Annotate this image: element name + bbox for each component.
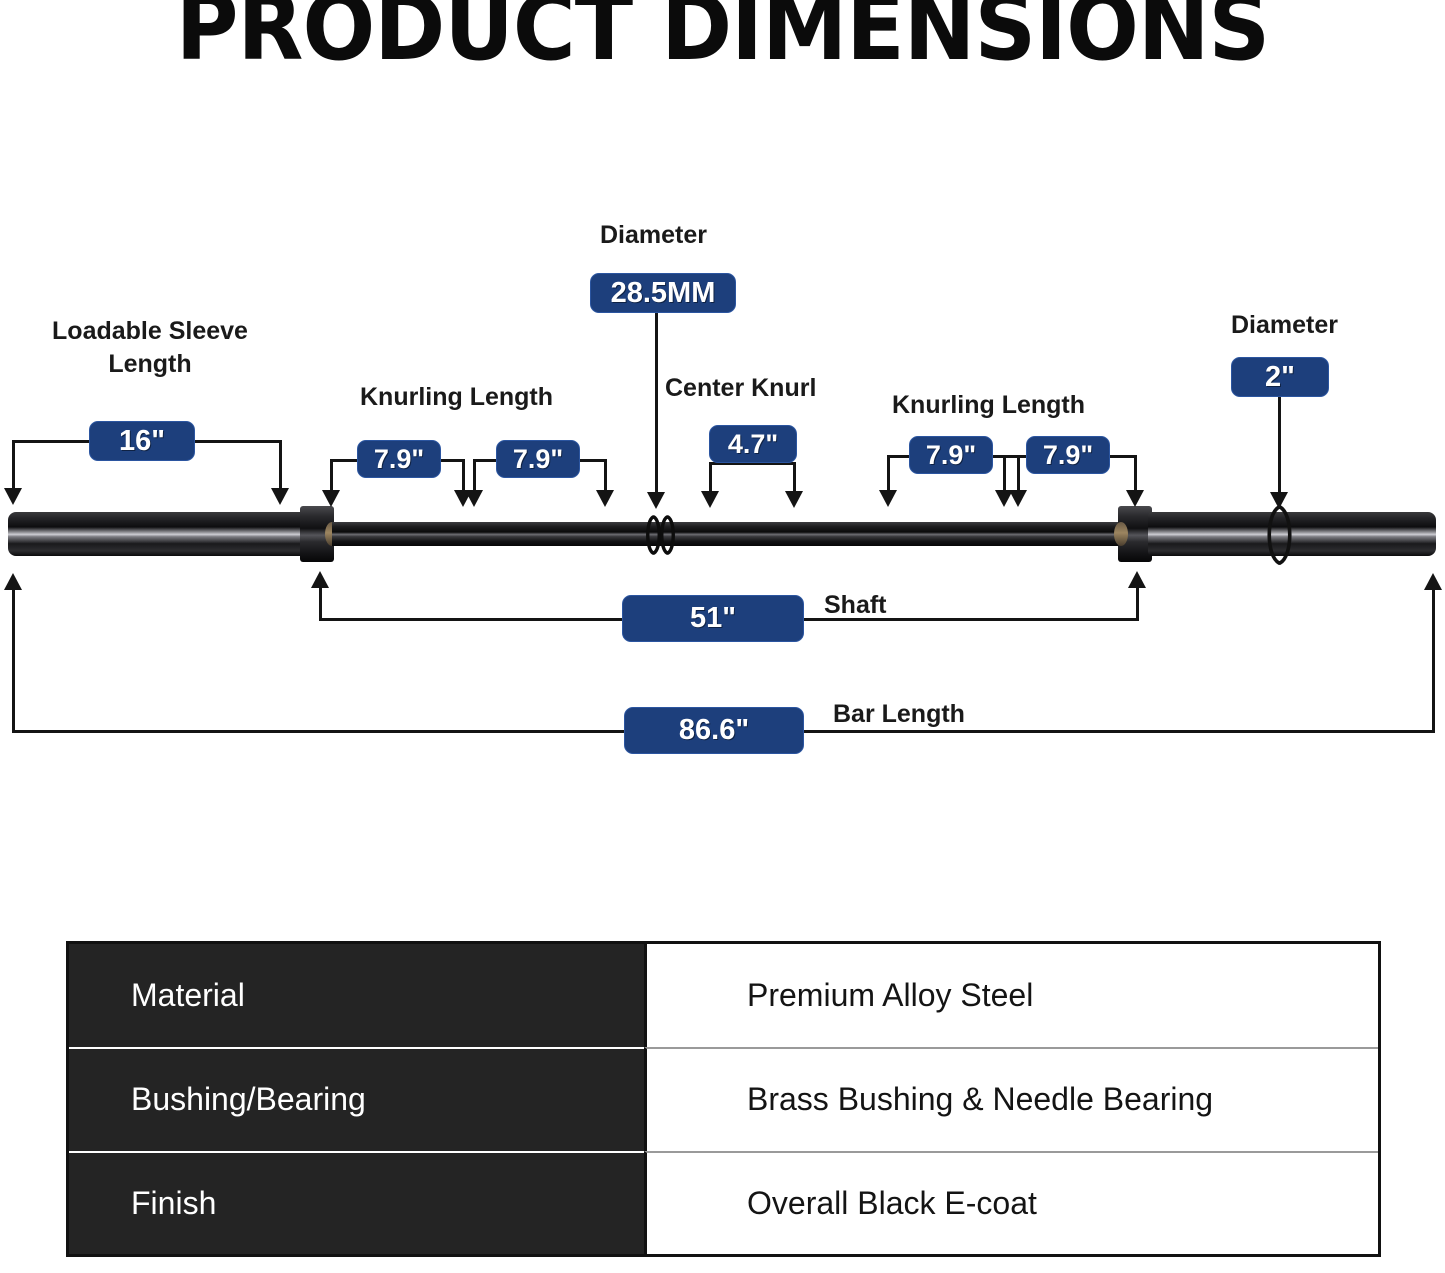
knurling-length-right-caption: Knurling Length [892,390,1085,420]
bar-length-right-tick [1432,588,1435,732]
shaft-caption: Shaft [824,590,887,620]
table-row: Material Premium Alloy Steel [69,944,1378,1047]
loadable-sleeve-right-tick [279,440,282,490]
knurling-left-a-tick2 [462,459,465,492]
knurling-left-b-tick2 [604,459,607,492]
center-knurl-tick1 [709,462,712,493]
diameter-center-caption: Diameter [600,220,707,250]
knurling-left-a-badge: 7.9" [357,440,441,478]
loadable-sleeve-left-tick [12,440,15,490]
knurling-right-a-tick2 [1017,455,1020,492]
bar-length-left-tick [12,588,15,732]
knurling-right-b-tick2 [1134,455,1137,492]
knurling-left-a-tick1 [330,459,333,492]
spec-key: Bushing/Bearing [69,1047,644,1150]
diameter-center-badge: 28.5MM [590,273,736,313]
knurling-left-b-arrow2 [596,490,614,507]
product-dimensions-infographic: PRODUCT DIMENSIONS Loadable Sleeve Lengt… [0,0,1445,1273]
bar-length-left-arrow [4,573,22,590]
page-title: PRODUCT DIMENSIONS [51,0,1395,74]
knurling-right-b-badge: 7.9" [1026,436,1110,474]
knurling-right-a-arrow1 [879,490,897,507]
spec-key: Finish [69,1151,644,1254]
loadable-sleeve-right-arrow [271,488,289,505]
center-diameter-ring-icon [640,513,680,557]
shaft-left-arrow [311,571,329,588]
shaft-badge: 51" [622,595,804,642]
shaft-left-tick [319,586,322,620]
knurling-length-left-caption: Knurling Length [360,382,553,412]
center-knurl-arrow2 [785,491,803,508]
knurling-right-b-arrow2 [1126,490,1144,507]
diameter-sleeve-leader [1278,397,1281,494]
diameter-center-arrow [647,492,665,509]
diameter-center-leader [655,313,658,494]
loadable-sleeve-length-caption: Loadable Sleeve Length [20,315,280,381]
spec-key: Material [69,944,644,1047]
diameter-sleeve-arrow [1270,492,1288,509]
diameter-sleeve-badge: 2" [1231,357,1329,397]
knurling-left-b-badge: 7.9" [496,440,580,478]
spec-value: Brass Bushing & Needle Bearing [644,1047,1378,1150]
loadable-sleeve-length-badge: 16" [89,421,195,461]
spec-value: Premium Alloy Steel [644,944,1378,1047]
center-knurl-tick2 [793,462,796,493]
spec-value: Overall Black E-coat [644,1151,1378,1254]
table-row: Bushing/Bearing Brass Bushing & Needle B… [69,1047,1378,1150]
left-sleeve [8,512,308,556]
bar-length-badge: 86.6" [624,707,804,754]
center-knurl-badge: 4.7" [709,425,797,463]
bar-length-right-arrow [1424,573,1442,590]
shaft-right-tick [1136,586,1139,620]
bar-length-caption: Bar Length [833,699,965,729]
knurling-right-a-badge: 7.9" [909,436,993,474]
table-row: Finish Overall Black E-coat [69,1151,1378,1254]
knurling-left-b-tick1 [473,459,476,492]
shaft-right-arrow [1128,571,1146,588]
diameter-sleeve-caption: Diameter [1231,310,1338,340]
spec-table: Material Premium Alloy Steel Bushing/Bea… [66,941,1381,1257]
center-knurl-caption: Center Knurl [665,373,816,403]
knurling-left-b-arrow1 [465,490,483,507]
right-collar-bushing [1114,522,1128,546]
knurling-left-a-arrow1 [322,490,340,507]
bar-shaft [332,522,1122,546]
knurling-right-a-tick1 [887,455,890,492]
center-knurl-arrow1 [701,491,719,508]
barbell-illustration [0,500,1445,570]
knurling-right-b-tick1 [1003,455,1006,492]
knurling-right-b-arrow1 [995,490,1013,507]
loadable-sleeve-left-arrow [4,488,22,505]
sleeve-diameter-ring-icon [1262,504,1298,566]
